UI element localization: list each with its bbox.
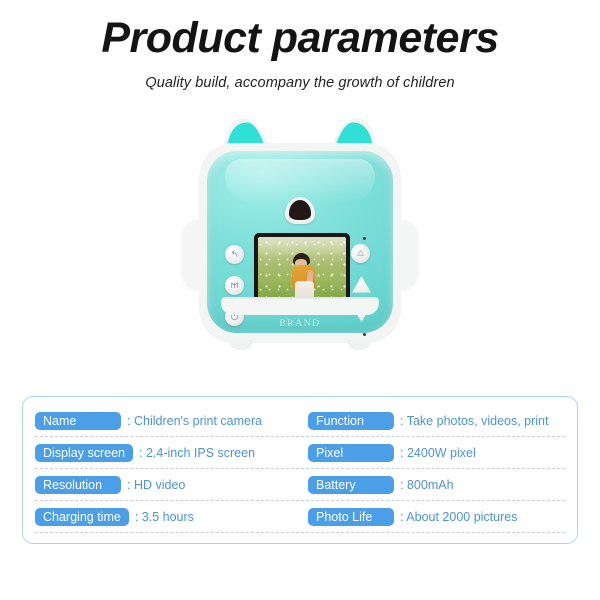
table-row: Resolution : HD video Battery : 800mAh [35, 469, 565, 501]
paper-output-slot [221, 297, 379, 315]
back-button[interactable] [225, 245, 244, 264]
camera-product-photo: BRAND [175, 115, 425, 360]
table-row: Charging time : 3.5 hours Photo Life : A… [35, 501, 565, 533]
spec-value-charging-time: : 3.5 hours [135, 510, 194, 524]
spec-value-battery: : 800mAh [400, 478, 454, 492]
spec-value-photo-life: : About 2000 pictures [400, 510, 517, 524]
indicator-led-bottom [363, 333, 366, 336]
spec-cell-display-screen: Display screen : 2.4-inch IPS screen [35, 444, 300, 462]
shutter-icon [355, 248, 366, 259]
spec-label-resolution: Resolution [35, 476, 121, 494]
ok-button[interactable] [351, 244, 370, 263]
menu-icon [229, 280, 240, 291]
spec-label-display-screen: Display screen [35, 444, 133, 462]
spec-value-function: : Take photos, videos, print [400, 414, 548, 428]
spec-label-photo-life: Photo Life [308, 508, 394, 526]
up-button[interactable] [351, 275, 372, 294]
spec-separator: : [139, 446, 142, 460]
spec-value-text: 3.5 hours [142, 510, 194, 524]
spec-value-display-screen: : 2.4-inch IPS screen [139, 446, 255, 460]
table-row: Display screen : 2.4-inch IPS screen Pix… [35, 437, 565, 469]
spec-value-name: : Children's print camera [127, 414, 262, 428]
spec-separator: : [400, 510, 403, 524]
spec-separator: : [400, 446, 403, 460]
spec-value-text: HD video [134, 478, 185, 492]
spec-label-name: Name [35, 412, 121, 430]
spec-value-text: Children's print camera [134, 414, 262, 428]
spec-value-text: 2.4-inch IPS screen [146, 446, 255, 460]
spec-label-charging-time: Charging time [35, 508, 129, 526]
spec-cell-battery: Battery : 800mAh [300, 476, 565, 494]
spec-separator: : [400, 478, 403, 492]
spec-cell-resolution: Resolution : HD video [35, 476, 300, 494]
spec-label-battery: Battery [308, 476, 394, 494]
indicator-led-top [363, 237, 366, 240]
spec-value-pixel: : 2400W pixel [400, 446, 476, 460]
spec-value-text: 800mAh [407, 478, 454, 492]
camera-foot-left [229, 340, 253, 350]
spec-cell-function: Function : Take photos, videos, print [300, 412, 565, 430]
brand-label: BRAND [207, 319, 393, 329]
spec-label-function: Function [308, 412, 394, 430]
spec-cell-name: Name : Children's print camera [35, 412, 300, 430]
page-title: Product parameters [0, 16, 600, 61]
spec-cell-pixel: Pixel : 2400W pixel [300, 444, 565, 462]
table-row: Name : Children's print camera Function … [35, 405, 565, 437]
spec-separator: : [135, 510, 138, 524]
spec-table: Name : Children's print camera Function … [22, 396, 578, 544]
spec-value-text: 2400W pixel [407, 446, 476, 460]
menu-button[interactable] [225, 276, 244, 295]
spec-value-resolution: : HD video [127, 478, 185, 492]
page-subtitle: Quality build, accompany the growth of c… [0, 75, 600, 91]
page-header: Product parameters Quality build, accomp… [0, 0, 600, 91]
back-arrow-icon [229, 249, 240, 260]
spec-cell-photo-life: Photo Life : About 2000 pictures [300, 508, 565, 526]
spec-label-pixel: Pixel [308, 444, 394, 462]
product-image-area: BRAND [0, 109, 600, 364]
camera-lens-icon [289, 200, 311, 220]
camera-foot-right [347, 340, 371, 350]
spec-separator: : [400, 414, 403, 428]
spec-value-text: About 2000 pictures [406, 510, 517, 524]
spec-cell-charging-time: Charging time : 3.5 hours [35, 508, 300, 526]
spec-separator: : [127, 478, 130, 492]
spec-value-text: Take photos, videos, print [407, 414, 549, 428]
spec-separator: : [127, 414, 130, 428]
